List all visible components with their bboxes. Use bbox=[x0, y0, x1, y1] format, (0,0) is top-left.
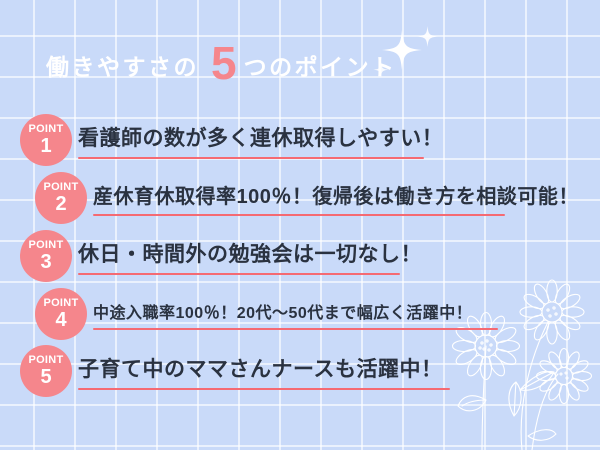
point-badge: POINT 4 bbox=[35, 288, 87, 340]
title-lead-text: 働きやすさの bbox=[46, 48, 199, 82]
point-body: 産休育休取得率100％！復帰後は働き方を相談可能！ bbox=[93, 180, 579, 216]
point-text: 中途入職率100％！20代〜50代まで幅広く活躍中！ bbox=[93, 299, 498, 328]
point-badge: POINT 2 bbox=[35, 172, 87, 224]
point-badge: POINT 5 bbox=[20, 345, 72, 397]
point-badge-word: POINT bbox=[43, 298, 78, 309]
point-text: 休日・時間外の勉強会は一切なし！ bbox=[78, 238, 422, 273]
point-text: 看護師の数が多く連休取得しやすい！ bbox=[78, 122, 443, 157]
page-title: 働きやすさの 5 つのポイント bbox=[46, 36, 397, 82]
point-body: 中途入職率100％！20代〜50代まで幅広く活躍中！ bbox=[93, 299, 498, 330]
point-row: POINT 5 子育て中のママさんナースも活躍中！ bbox=[20, 345, 450, 397]
point-body: 休日・時間外の勉強会は一切なし！ bbox=[78, 238, 422, 275]
point-badge-word: POINT bbox=[28, 240, 63, 251]
point-row: POINT 2 産休育休取得率100％！復帰後は働き方を相談可能！ bbox=[35, 172, 579, 224]
point-badge-word: POINT bbox=[28, 355, 63, 366]
point-badge-word: POINT bbox=[28, 124, 63, 135]
point-body: 看護師の数が多く連休取得しやすい！ bbox=[78, 122, 443, 159]
daisy-flower-icon bbox=[436, 250, 600, 450]
point-badge: POINT 1 bbox=[20, 114, 72, 166]
point-badge: POINT 3 bbox=[20, 230, 72, 282]
poster-canvas: 働きやすさの 5 つのポイント POINT 1 看護師の数が多く連休取得しやすい… bbox=[0, 0, 600, 450]
point-badge-number: 3 bbox=[40, 252, 51, 272]
point-underline bbox=[78, 157, 424, 159]
point-underline bbox=[93, 328, 498, 330]
title-trail-text: つのポイント bbox=[244, 48, 397, 82]
point-underline bbox=[78, 273, 400, 275]
point-badge-word: POINT bbox=[43, 182, 78, 193]
point-body: 子育て中のママさんナースも活躍中！ bbox=[78, 353, 450, 390]
point-underline bbox=[93, 214, 505, 216]
point-underline bbox=[78, 388, 450, 390]
point-badge-number: 2 bbox=[55, 194, 66, 214]
title-number: 5 bbox=[211, 40, 237, 86]
point-badge-number: 1 bbox=[40, 136, 51, 156]
point-row: POINT 4 中途入職率100％！20代〜50代まで幅広く活躍中！ bbox=[35, 288, 498, 340]
point-row: POINT 3 休日・時間外の勉強会は一切なし！ bbox=[20, 230, 422, 282]
point-badge-number: 4 bbox=[55, 310, 66, 330]
point-text: 子育て中のママさんナースも活躍中！ bbox=[78, 353, 450, 388]
point-row: POINT 1 看護師の数が多く連休取得しやすい！ bbox=[20, 114, 443, 166]
point-text: 産休育休取得率100％！復帰後は働き方を相談可能！ bbox=[93, 180, 579, 214]
point-badge-number: 5 bbox=[40, 367, 51, 387]
